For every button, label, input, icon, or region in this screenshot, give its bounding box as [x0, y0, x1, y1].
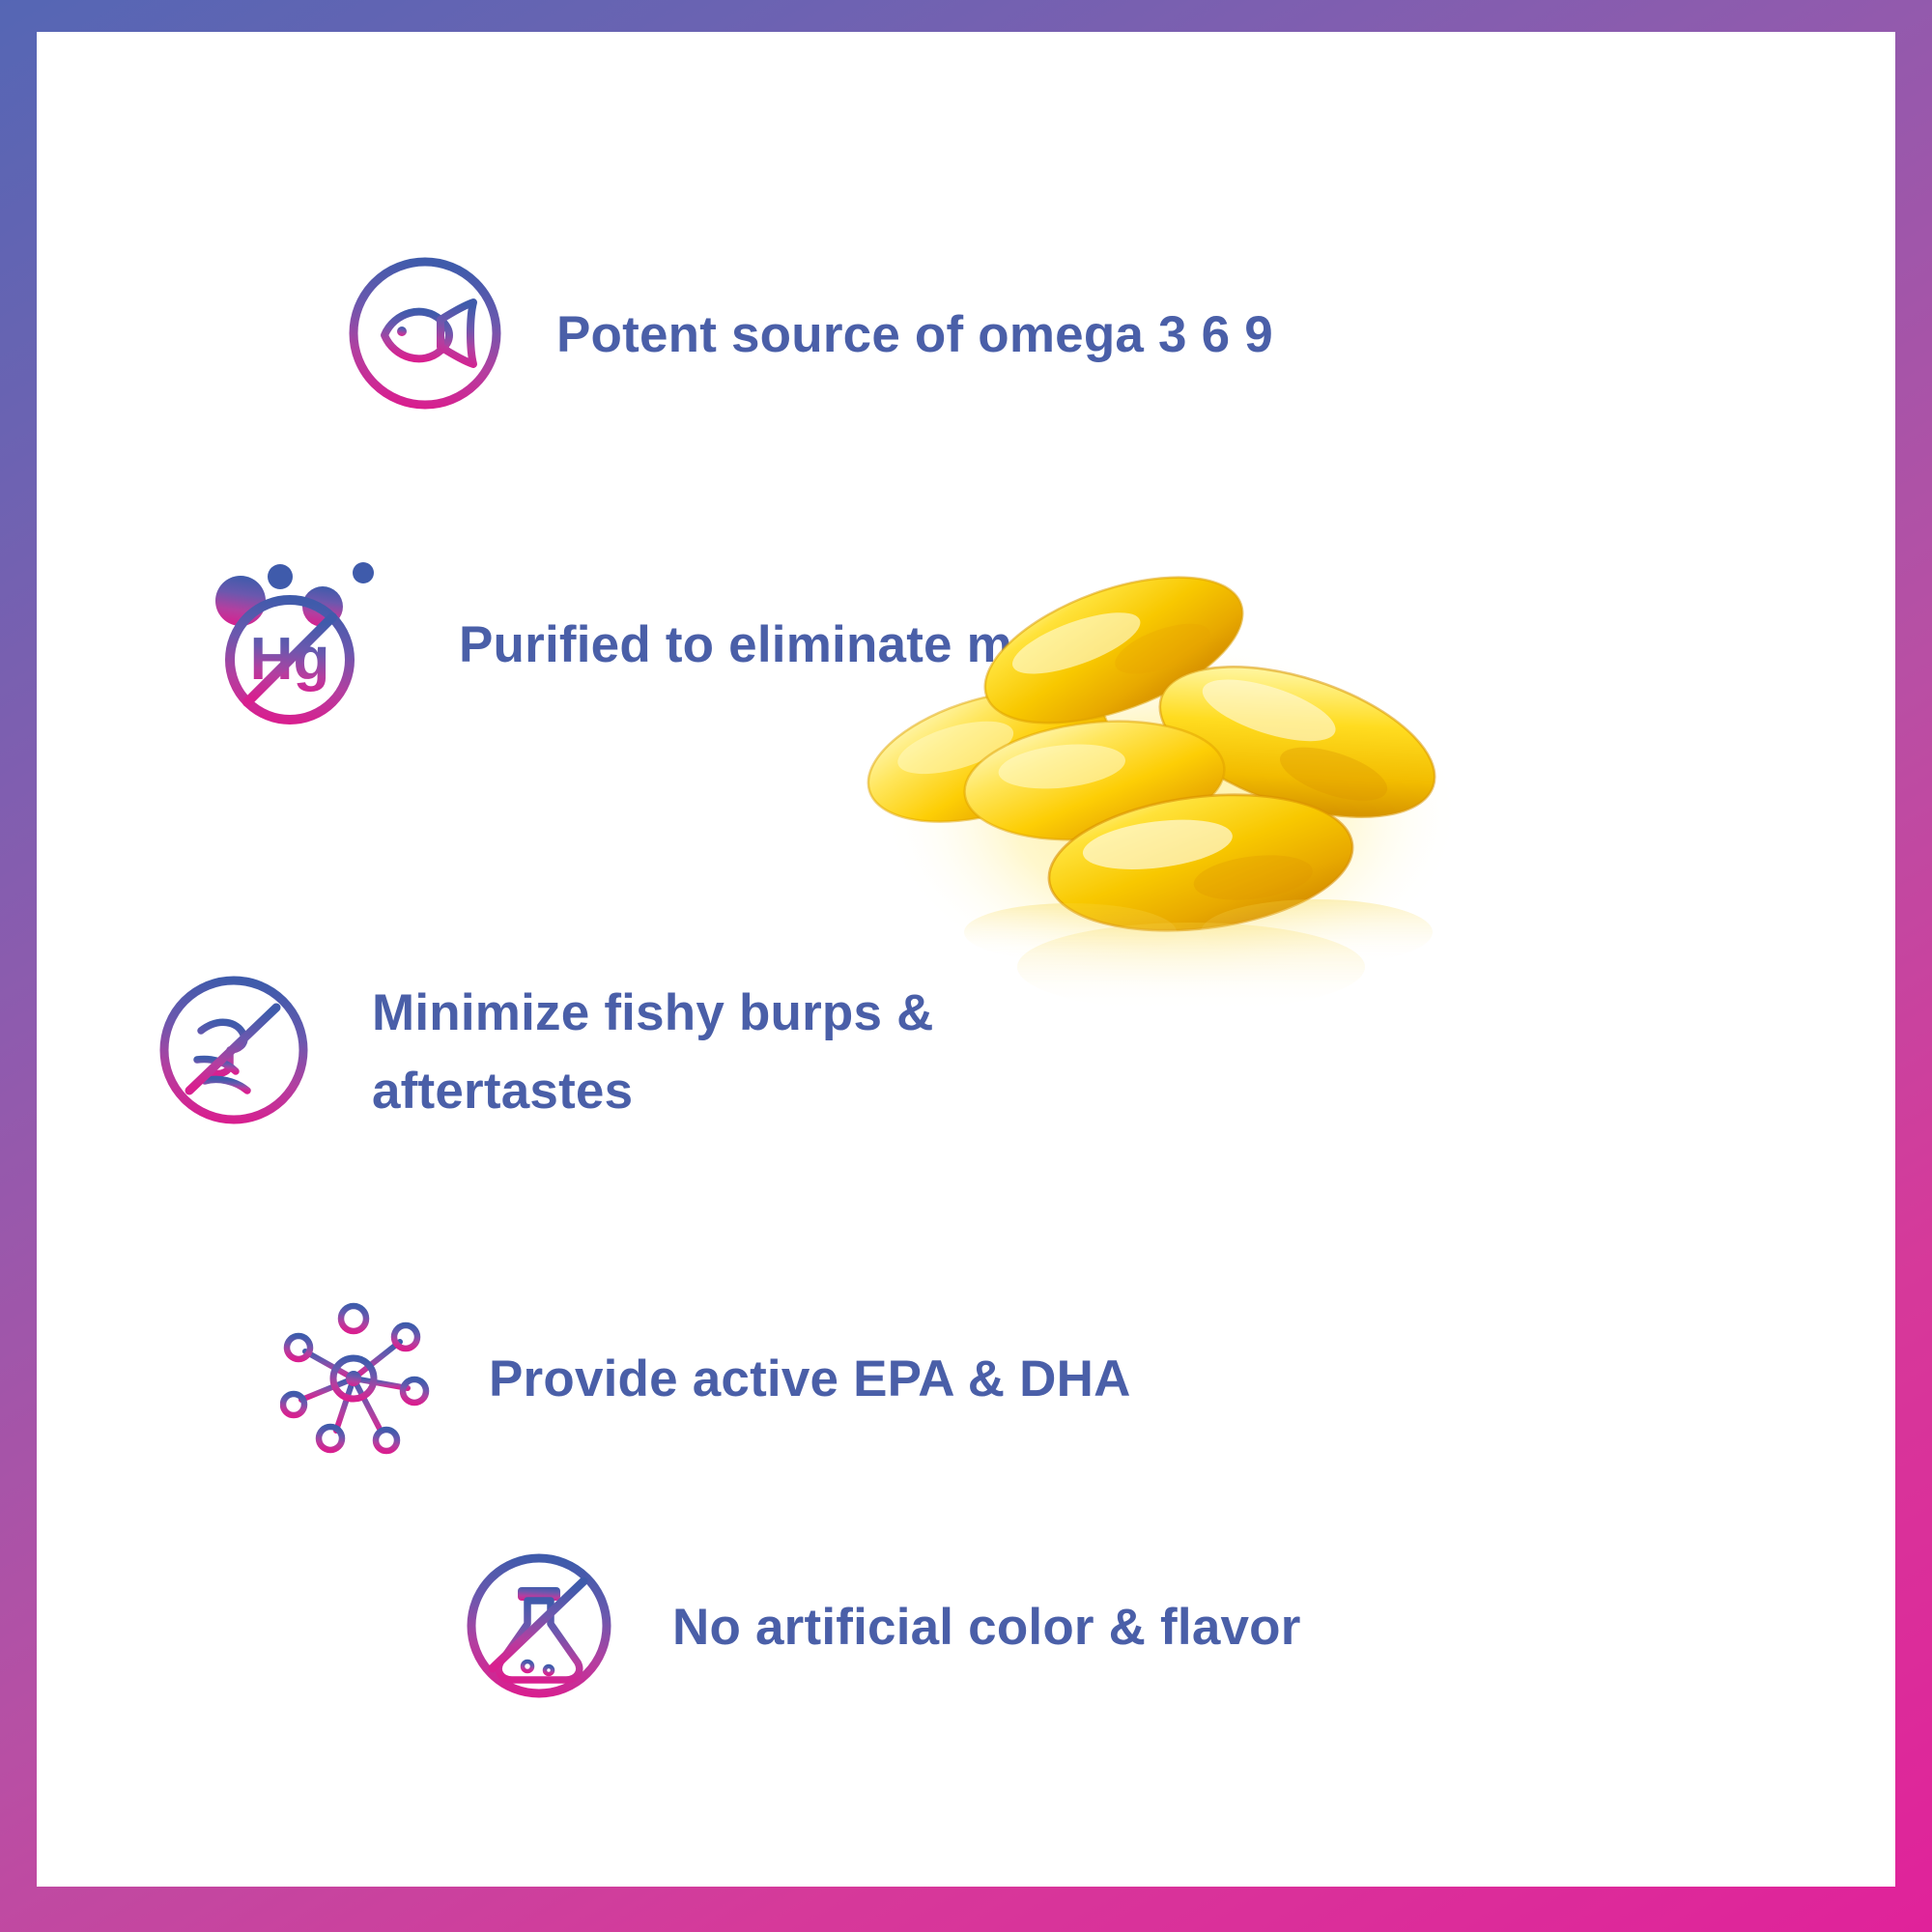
no-fishy-burps-icon: [155, 971, 314, 1135]
benefit-label-no-artificial: No artificial color & flavor: [672, 1589, 1301, 1667]
benefit-label-omega: Potent source of omega 3 6 9: [556, 297, 1273, 375]
no-mercury-icon: Hg: [201, 552, 409, 740]
no-flask-icon: [462, 1548, 616, 1708]
benefit-label-epa-dha: Provide active EPA & DHA: [489, 1341, 1131, 1419]
benefit-row-burps: Minimize fishy burps & aftertastes: [155, 971, 934, 1135]
benefit-row-omega: Potent source of omega 3 6 9: [344, 252, 1273, 419]
benefit-row-epa-dha: Provide active EPA & DHA: [280, 1295, 1131, 1464]
benefit-row-no-artificial: No artificial color & flavor: [462, 1548, 1301, 1708]
fish-oil-capsules-image: Pile of translucent golden fish oil soft…: [853, 573, 1510, 1056]
product-benefits-infographic: Potent source of omega 3 6 9 Hg: [0, 0, 1932, 1932]
molecule-icon: [280, 1295, 435, 1464]
benefit-label-burps: Minimize fishy burps & aftertastes: [372, 975, 934, 1130]
infographic-canvas: Potent source of omega 3 6 9 Hg: [37, 32, 1895, 1887]
fish-icon: [344, 252, 506, 419]
